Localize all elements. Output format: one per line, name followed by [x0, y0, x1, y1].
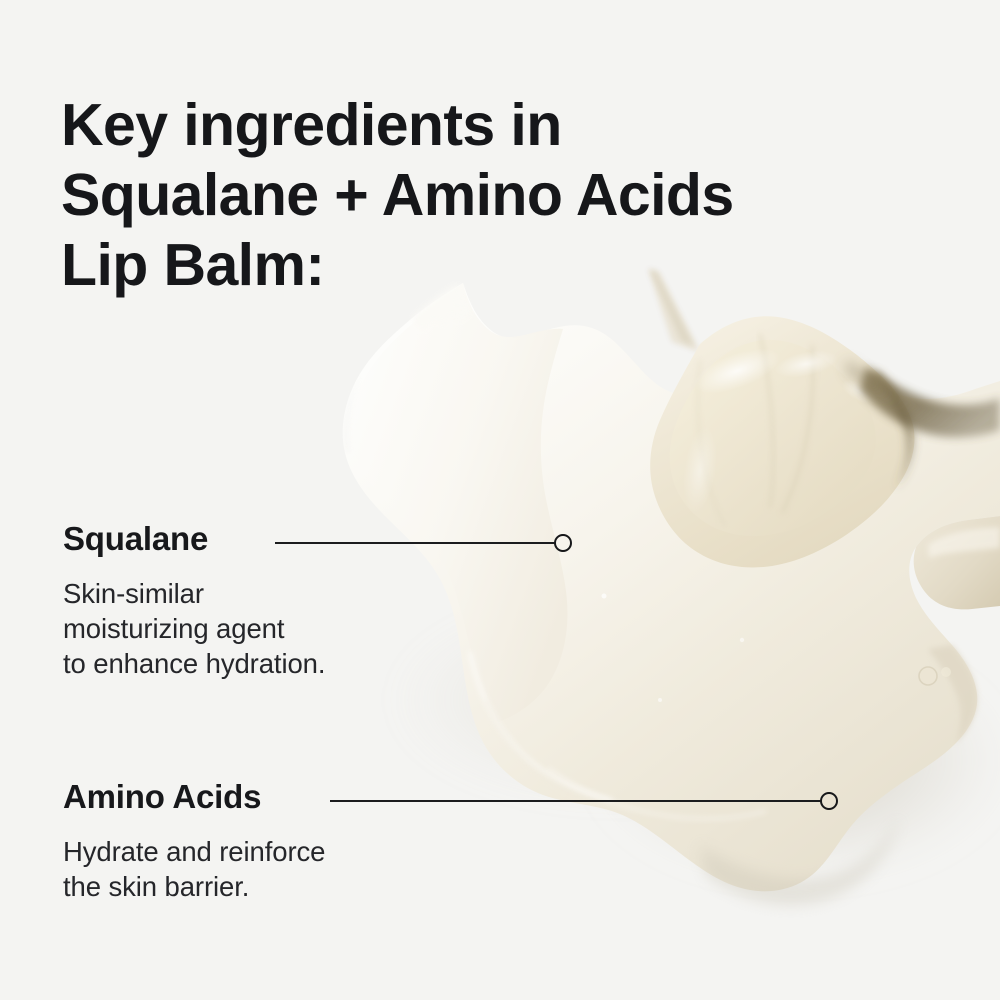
callout-amino-acids-body: Hydrate and reinforce the skin barrier.: [63, 834, 325, 904]
page-title: Key ingredients in Squalane + Amino Acid…: [61, 90, 881, 300]
infographic-page: Key ingredients in Squalane + Amino Acid…: [0, 0, 1000, 1000]
callout-amino-acids-title: Amino Acids: [63, 779, 325, 815]
callout-squalane-body: Skin-similar moisturizing agent to enhan…: [63, 576, 325, 681]
callout-squalane-title: Squalane: [63, 521, 325, 557]
callout-amino-acids: Amino Acids Hydrate and reinforce the sk…: [63, 779, 325, 904]
callout-squalane: Squalane Skin-similar moisturizing agent…: [63, 521, 325, 681]
